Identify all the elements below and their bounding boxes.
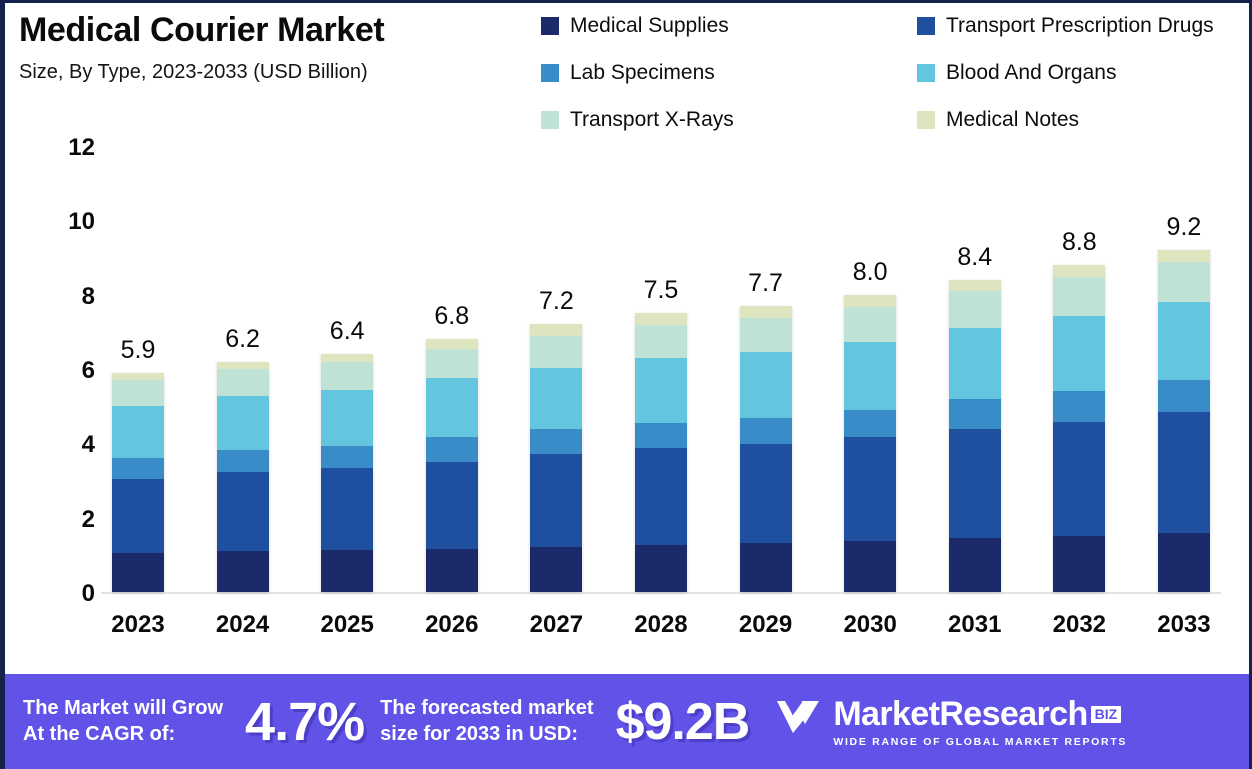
bar-stack-2030[interactable]	[844, 295, 896, 592]
bar-segment-2029-5[interactable]	[740, 306, 792, 318]
bar-segment-2028-5[interactable]	[635, 313, 687, 325]
legend-swatch-medical-notes	[917, 111, 935, 129]
brand-name-row: MarketResearch BIZ	[833, 695, 1127, 734]
bar-segment-2030-4[interactable]	[844, 307, 896, 343]
bar-segment-2026-2[interactable]	[426, 437, 478, 461]
x-axis-tick-2031: 2031	[944, 611, 1006, 655]
bar-segment-2033-4[interactable]	[1158, 262, 1210, 302]
bar-group-2033[interactable]: 9.2	[1153, 148, 1215, 592]
legend-label-4: Transport X-Rays	[570, 109, 734, 130]
bar-segment-2032-3[interactable]	[1053, 316, 1105, 391]
bar-stack-2026[interactable]	[426, 339, 478, 592]
bar-group-2032[interactable]: 8.8	[1048, 148, 1110, 592]
bar-segment-2028-3[interactable]	[635, 358, 687, 422]
bar-segment-2025-1[interactable]	[321, 468, 373, 550]
bar-group-2026[interactable]: 6.8	[421, 148, 483, 592]
bar-segment-2030-3[interactable]	[844, 342, 896, 410]
bar-segment-2028-1[interactable]	[635, 448, 687, 545]
bar-segment-2025-2[interactable]	[321, 446, 373, 468]
bar-segment-2033-3[interactable]	[1158, 302, 1210, 380]
y-axis-tick-8: 8	[82, 283, 95, 311]
bar-segment-2026-4[interactable]	[426, 349, 478, 379]
bar-value-label-2030: 8.0	[853, 258, 888, 287]
legend-item-5[interactable]: Medical Notes	[917, 109, 1252, 130]
forecast-caption-line1: The forecasted market	[380, 696, 593, 722]
bar-segment-2023-1[interactable]	[112, 479, 164, 553]
bar-group-2023[interactable]: 5.9	[107, 148, 169, 592]
y-axis: 024681012	[35, 133, 95, 609]
bar-value-label-2028: 7.5	[644, 276, 679, 305]
summary-banner: The Market will Grow At the CAGR of: 4.7…	[5, 674, 1252, 769]
bar-segment-2031-2[interactable]	[949, 399, 1001, 429]
bar-segment-2030-5[interactable]	[844, 295, 896, 307]
y-axis-tick-2: 2	[82, 506, 95, 534]
bar-stack-2031[interactable]	[949, 280, 1001, 592]
bar-segment-2030-1[interactable]	[844, 437, 896, 541]
bar-stack-2033[interactable]	[1158, 250, 1210, 592]
cagr-caption: The Market will Grow At the CAGR of:	[23, 696, 223, 747]
x-axis-tick-2030: 2030	[839, 611, 901, 655]
legend-label-2: Lab Specimens	[570, 62, 715, 83]
header: Medical Courier Market Size, By Type, 20…	[19, 11, 519, 84]
bar-stack-2027[interactable]	[530, 324, 582, 592]
cagr-caption-line1: The Market will Grow	[23, 696, 223, 722]
bar-segment-2027-3[interactable]	[530, 368, 582, 430]
cagr-caption-line2: At the CAGR of:	[23, 722, 223, 748]
bar-segment-2027-0[interactable]	[530, 547, 582, 592]
bar-segment-2031-5[interactable]	[949, 280, 1001, 291]
legend-label-0: Medical Supplies	[570, 15, 729, 36]
brand-name: MarketResearch	[833, 695, 1087, 734]
y-axis-tick-12: 12	[68, 134, 95, 162]
bar-segment-2026-0[interactable]	[426, 549, 478, 592]
bar-segment-2023-2[interactable]	[112, 458, 164, 478]
bar-group-2027[interactable]: 7.2	[525, 148, 587, 592]
x-axis-tick-2033: 2033	[1153, 611, 1215, 655]
chart-subtitle: Size, By Type, 2023-2033 (USD Billion)	[19, 61, 519, 84]
bar-segment-2030-2[interactable]	[844, 410, 896, 437]
bar-segment-2024-1[interactable]	[217, 472, 269, 551]
chart-legend: Medical SuppliesTransport Prescription D…	[541, 15, 1252, 130]
forecast-size-value: $9.2B	[616, 692, 750, 752]
bar-segment-2031-4[interactable]	[949, 291, 1001, 328]
bar-segment-2031-0[interactable]	[949, 538, 1001, 592]
bar-segment-2026-1[interactable]	[426, 462, 478, 549]
bar-group-2031[interactable]: 8.4	[944, 148, 1006, 592]
brand-badge: BIZ	[1091, 706, 1122, 723]
x-axis-tick-2028: 2028	[630, 611, 692, 655]
bar-segment-2027-2[interactable]	[530, 429, 582, 454]
x-axis-tick-2027: 2027	[525, 611, 587, 655]
legend-swatch-blood-and-organs	[917, 64, 935, 82]
bar-segment-2033-5[interactable]	[1158, 250, 1210, 262]
brand-text: MarketResearch BIZ WIDE RANGE OF GLOBAL …	[833, 695, 1127, 748]
bar-value-label-2024: 6.2	[225, 325, 260, 354]
bar-segment-2029-1[interactable]	[740, 444, 792, 543]
bar-group-2029[interactable]: 7.7	[735, 148, 797, 592]
double-check-icon	[775, 698, 821, 745]
page-title: Medical Courier Market	[19, 11, 519, 49]
forecast-caption-line2: size for 2033 in USD:	[380, 722, 593, 748]
legend-label-5: Medical Notes	[946, 109, 1079, 130]
bar-stack-2032[interactable]	[1053, 265, 1105, 592]
legend-swatch-transport-x-rays	[541, 111, 559, 129]
bar-segment-2023-3[interactable]	[112, 406, 164, 458]
legend-item-0[interactable]: Medical Supplies	[541, 15, 917, 36]
legend-item-1[interactable]: Transport Prescription Drugs	[917, 15, 1252, 36]
bar-value-label-2033: 9.2	[1167, 213, 1202, 242]
bar-value-label-2023: 5.9	[121, 336, 156, 365]
bar-segment-2024-0[interactable]	[217, 551, 269, 592]
bar-segment-2028-4[interactable]	[635, 325, 687, 358]
bar-segment-2032-2[interactable]	[1053, 391, 1105, 422]
bar-segment-2026-5[interactable]	[426, 339, 478, 348]
legend-label-1: Transport Prescription Drugs	[946, 15, 1214, 36]
plot-area: 5.96.26.46.87.27.57.78.08.48.89.2	[101, 148, 1221, 594]
infographic-root: Medical Courier Market Size, By Type, 20…	[0, 0, 1252, 769]
bar-series-container: 5.96.26.46.87.27.57.78.08.48.89.2	[101, 148, 1221, 592]
y-axis-tick-10: 10	[68, 208, 95, 236]
bar-stack-2025[interactable]	[321, 354, 373, 592]
bar-segment-2028-2[interactable]	[635, 423, 687, 449]
cagr-value: 4.7%	[245, 691, 364, 753]
bar-segment-2031-1[interactable]	[949, 429, 1001, 539]
bar-segment-2033-1[interactable]	[1158, 412, 1210, 532]
legend-item-3[interactable]: Blood And Organs	[917, 62, 1252, 83]
forecast-size-caption: The forecasted market size for 2033 in U…	[380, 696, 593, 747]
bar-group-2024[interactable]: 6.2	[212, 148, 274, 592]
x-axis-tick-2029: 2029	[735, 611, 797, 655]
bar-value-label-2027: 7.2	[539, 287, 574, 316]
bar-segment-2023-0[interactable]	[112, 553, 164, 592]
bar-segment-2032-1[interactable]	[1053, 422, 1105, 536]
bar-value-label-2026: 6.8	[434, 302, 469, 331]
bar-segment-2032-5[interactable]	[1053, 265, 1105, 277]
bar-segment-2027-5[interactable]	[530, 324, 582, 335]
bar-segment-2033-0[interactable]	[1158, 533, 1210, 592]
bar-segment-2029-3[interactable]	[740, 352, 792, 418]
bar-segment-2025-4[interactable]	[321, 362, 373, 390]
bar-segment-2025-0[interactable]	[321, 550, 373, 592]
x-axis-baseline	[101, 592, 1221, 594]
y-axis-tick-4: 4	[82, 431, 95, 459]
bar-segment-2024-4[interactable]	[217, 369, 269, 396]
bar-segment-2032-0[interactable]	[1053, 536, 1105, 592]
brand-logo[interactable]: MarketResearch BIZ WIDE RANGE OF GLOBAL …	[775, 695, 1127, 748]
bar-segment-2028-0[interactable]	[635, 545, 687, 592]
x-axis-tick-2026: 2026	[421, 611, 483, 655]
bar-segment-2023-4[interactable]	[112, 380, 164, 406]
bar-segment-2024-2[interactable]	[217, 450, 269, 472]
x-axis-tick-2025: 2025	[316, 611, 378, 655]
bar-segment-2031-3[interactable]	[949, 328, 1001, 399]
legend-item-4[interactable]: Transport X-Rays	[541, 109, 917, 130]
legend-swatch-medical-supplies	[541, 17, 559, 35]
bar-group-2028[interactable]: 7.5	[630, 148, 692, 592]
bar-segment-2024-5[interactable]	[217, 362, 269, 369]
bar-segment-2027-1[interactable]	[530, 454, 582, 547]
legend-swatch-transport-prescription-drugs	[917, 17, 935, 35]
x-axis-tick-2024: 2024	[212, 611, 274, 655]
bar-segment-2029-0[interactable]	[740, 543, 792, 592]
bar-segment-2025-3[interactable]	[321, 390, 373, 446]
bar-group-2030[interactable]: 8.0	[839, 148, 901, 592]
bar-value-label-2025: 6.4	[330, 317, 365, 346]
legend-label-3: Blood And Organs	[946, 62, 1116, 83]
bar-stack-2028[interactable]	[635, 313, 687, 592]
bar-segment-2033-2[interactable]	[1158, 380, 1210, 412]
bar-segment-2026-3[interactable]	[426, 378, 478, 437]
bar-value-label-2031: 8.4	[957, 243, 992, 272]
legend-swatch-lab-specimens	[541, 64, 559, 82]
bar-value-label-2029: 7.7	[748, 269, 783, 298]
x-axis: 2023202420252026202720282029203020312032…	[101, 611, 1221, 655]
x-axis-tick-2032: 2032	[1048, 611, 1110, 655]
bar-segment-2029-4[interactable]	[740, 318, 792, 352]
brand-tagline: WIDE RANGE OF GLOBAL MARKET REPORTS	[833, 736, 1127, 748]
bar-group-2025[interactable]: 6.4	[316, 148, 378, 592]
bar-segment-2023-5[interactable]	[112, 373, 164, 380]
y-axis-tick-6: 6	[82, 357, 95, 385]
bar-stack-2024[interactable]	[217, 362, 269, 592]
x-axis-tick-2023: 2023	[107, 611, 169, 655]
bar-stack-2029[interactable]	[740, 306, 792, 592]
bar-segment-2032-4[interactable]	[1053, 277, 1105, 316]
bar-segment-2025-5[interactable]	[321, 354, 373, 361]
bar-stack-2023[interactable]	[112, 373, 164, 592]
bar-segment-2027-4[interactable]	[530, 336, 582, 368]
bar-value-label-2032: 8.8	[1062, 228, 1097, 257]
bar-segment-2030-0[interactable]	[844, 541, 896, 592]
bar-segment-2024-3[interactable]	[217, 396, 269, 450]
bar-segment-2029-2[interactable]	[740, 418, 792, 444]
legend-item-2[interactable]: Lab Specimens	[541, 62, 917, 83]
y-axis-tick-0: 0	[82, 580, 95, 608]
